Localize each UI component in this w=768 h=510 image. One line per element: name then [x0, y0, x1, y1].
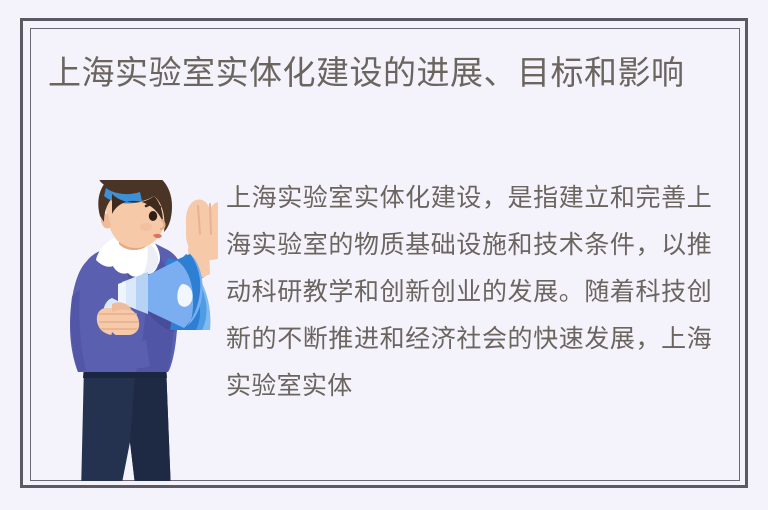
article-body: 上海实验室实体化建设，是指建立和完善上海实验室的物质基础设施和技术条件，以推动科…: [226, 175, 712, 410]
illustration-woman-with-megaphone: [50, 180, 218, 481]
article-card: 上海实验室实体化建设的进展、目标和影响: [0, 0, 768, 510]
card-content: 上海实验室实体化建设的进展、目标和影响: [30, 28, 740, 481]
pants-shape: [81, 365, 171, 481]
head-shape: [97, 180, 172, 248]
page-title: 上海实验室实体化建设的进展、目标和影响: [48, 50, 724, 95]
